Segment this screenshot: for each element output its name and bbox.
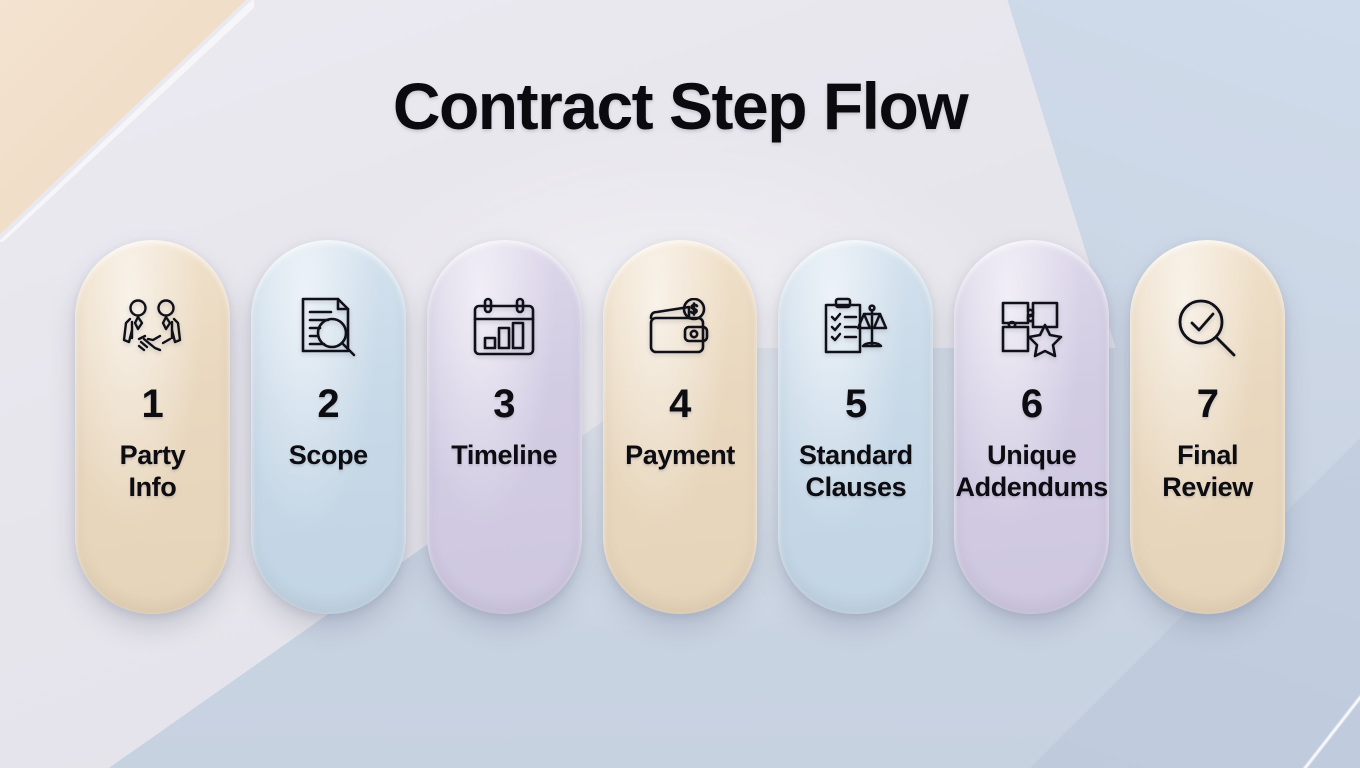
step-label-line2: Info [120,472,186,504]
step-card-3[interactable]: 3 Timeline [427,240,582,614]
step-label-line1: Standard [799,440,913,470]
step-label-line1: Payment [625,440,735,470]
diagonal-hairline [1134,646,1360,768]
puzzle-star-icon [995,292,1069,366]
step-card-6[interactable]: 6 Unique Addendums [954,240,1109,614]
page-title: Contract Step Flow [0,68,1360,144]
clipboard-scales-icon [819,292,893,366]
step-card-5[interactable]: 5 Standard Clauses [778,240,933,614]
slide-canvas: Contract Step Flow [0,0,1360,768]
step-number: 5 [845,384,867,424]
step-number: 7 [1197,384,1219,424]
step-number: 6 [1021,384,1043,424]
document-magnifier-icon [291,292,365,366]
magnifier-check-icon [1171,292,1245,366]
handshake-icon [115,292,189,366]
step-label: Scope [289,440,368,472]
step-number: 1 [142,384,164,424]
step-card-1[interactable]: 1 Party Info [75,240,230,614]
step-card-4[interactable]: 4 Payment [603,240,758,614]
step-card-7[interactable]: 7 Final Review [1130,240,1285,614]
step-label-line1: Party [120,440,186,470]
step-label: Final Review [1162,440,1253,503]
step-label-line1: Scope [289,440,368,470]
step-label: Standard Clauses [799,440,913,503]
step-number: 3 [493,384,515,424]
step-label: Payment [625,440,735,472]
step-flow-list: 1 Party Info 2 [75,240,1285,614]
step-number: 4 [669,384,691,424]
step-label-line2: Review [1162,472,1253,504]
wallet-coin-icon [643,292,717,366]
step-label-line1: Timeline [451,440,557,470]
step-label-line1: Final [1177,440,1238,470]
step-label-line2: Addendums [956,472,1108,504]
step-label: Timeline [451,440,557,472]
calendar-chart-icon [467,292,541,366]
step-label-line2: Clauses [799,472,913,504]
step-number: 2 [317,384,339,424]
step-label: Party Info [120,440,186,503]
step-label-line1: Unique [987,440,1076,470]
step-label: Unique Addendums [956,440,1108,503]
step-card-2[interactable]: 2 Scope [251,240,406,614]
